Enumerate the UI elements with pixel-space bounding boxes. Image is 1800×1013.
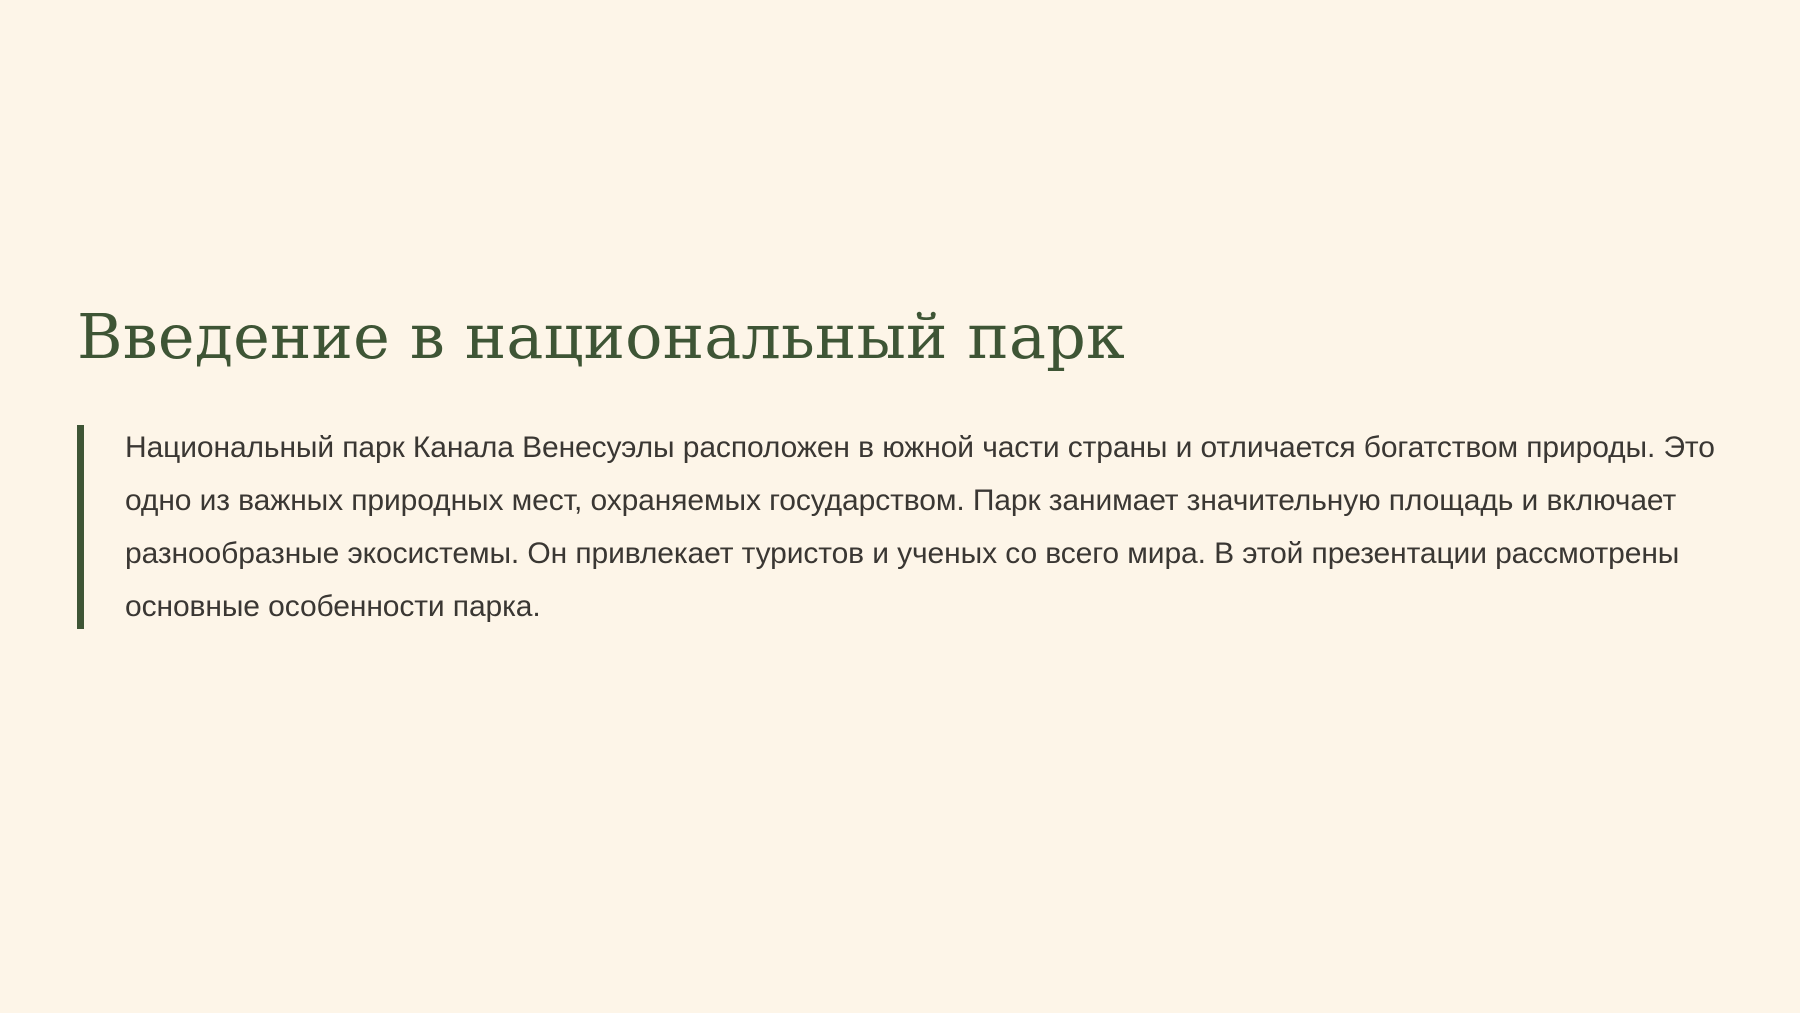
page-title: Введение в национальный парк [77,300,1717,373]
accent-bar [77,425,84,629]
body-paragraph: Национальный парк Канала Венесуэлы распо… [125,421,1717,633]
presentation-slide: Введение в национальный парк Национальны… [0,0,1800,1013]
slide-content: Введение в национальный парк Национальны… [77,300,1717,633]
body-block: Национальный парк Канала Венесуэлы распо… [77,421,1717,633]
